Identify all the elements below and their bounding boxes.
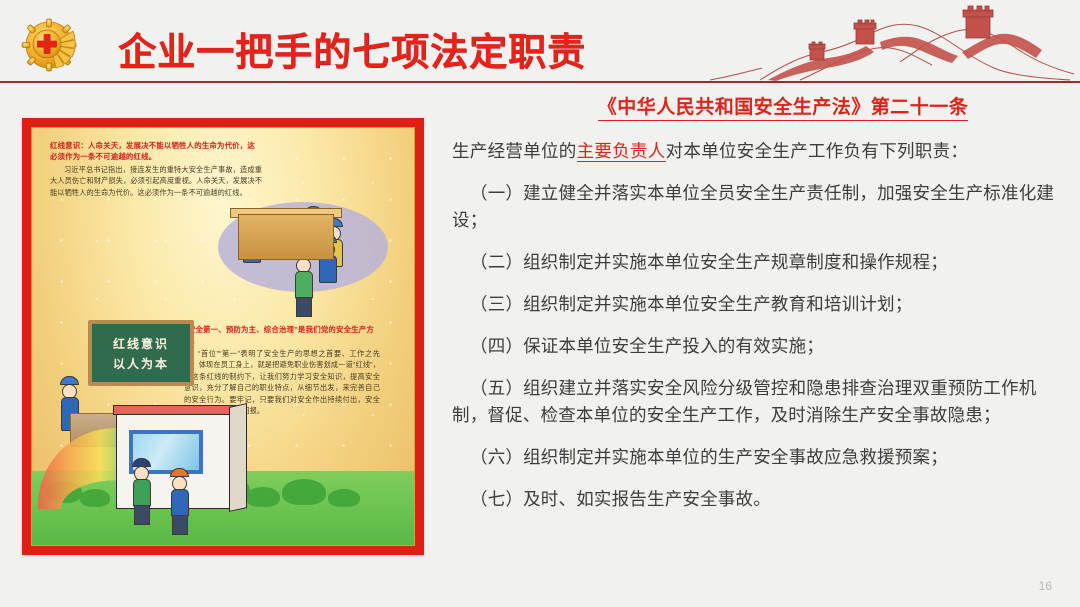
clause-item-1: （一）建立健全并落实本单位全员安全生产责任制，加强安全生产标准化建设； xyxy=(452,180,1060,234)
blackboard-line-2: 以人为本 xyxy=(113,355,169,372)
great-wall-illustration-icon xyxy=(650,2,1080,82)
poster-bush xyxy=(328,489,360,507)
clause-item-6: （六）组织制定并实施本单位的生产安全事故应急救援预案； xyxy=(452,444,1060,471)
lead-sentence: 生产经营单位的主要负责人对本单位安全生产工作负有下列职责： xyxy=(452,138,1060,165)
slide-header: 企业一把手的七项法定职责 xyxy=(0,0,1080,83)
poster-desk xyxy=(238,214,334,260)
poster-bush xyxy=(282,479,326,505)
clause-item-7: （七）及时、如实报告生产安全事故。 xyxy=(452,486,1060,513)
safety-poster-image: 红线意识：人命关天，发展决不能以牺牲人的生命为代价，这必须作为一条不可逾越的红线… xyxy=(22,118,424,555)
page-number: 16 xyxy=(1039,579,1052,593)
law-content-column: 《中华人民共和国安全生产法》第二十一条 生产经营单位的主要负责人对本单位安全生产… xyxy=(452,92,1060,513)
poster-body-1: 习近平总书记指出，接连发生的重特大安全生产事故，造成重大人员伤亡和财产损失，必须… xyxy=(50,164,262,198)
slide-root: 企业一把手的七项法定职责 xyxy=(0,0,1080,607)
clause-item-2: （二）组织制定并实施本单位安全生产规章制度和操作规程； xyxy=(452,249,1060,276)
clause-item-4: （四）保证本单位安全生产投入的有效实施； xyxy=(452,333,1060,360)
clause-item-3: （三）组织制定并实施本单位安全生产教育和培训计划； xyxy=(452,291,1060,318)
poster-building-side-wall xyxy=(229,403,247,512)
poster-canvas: 红线意识：人命关天，发展决不能以牺牲人的生命为代价，这必须作为一条不可逾越的红线… xyxy=(31,127,415,546)
poster-building-roof xyxy=(113,405,237,415)
safety-cross-gear-logo-icon xyxy=(18,17,80,73)
header-divider xyxy=(0,81,1080,83)
clause-item-5: （五）组织建立并落实安全风险分级管控和隐患排查治理双重预防工作机制，督促、检查本… xyxy=(452,375,1060,429)
page-title: 企业一把手的七项法定职责 xyxy=(118,21,586,76)
poster-red-heading-2: “安全第一、预防为主、综合治理”是我们党的安全生产方针。 xyxy=(184,324,380,346)
poster-red-heading-1: 红线意识：人命关天，发展决不能以牺牲人的生命为代价，这必须作为一条不可逾越的红线… xyxy=(50,140,262,162)
poster-bush xyxy=(246,487,280,507)
law-article-title: 《中华人民共和国安全生产法》第二十一条 xyxy=(598,92,969,121)
lead-highlight-term: 主要负责人 xyxy=(577,141,666,162)
lead-prefix: 生产经营单位的 xyxy=(452,141,577,161)
lead-suffix: 对本单位安全生产工作负有下列职责： xyxy=(666,141,969,161)
poster-blackboard: 红线意识 以人为本 xyxy=(88,320,194,386)
blackboard-line-1: 红线意识 xyxy=(113,335,169,352)
